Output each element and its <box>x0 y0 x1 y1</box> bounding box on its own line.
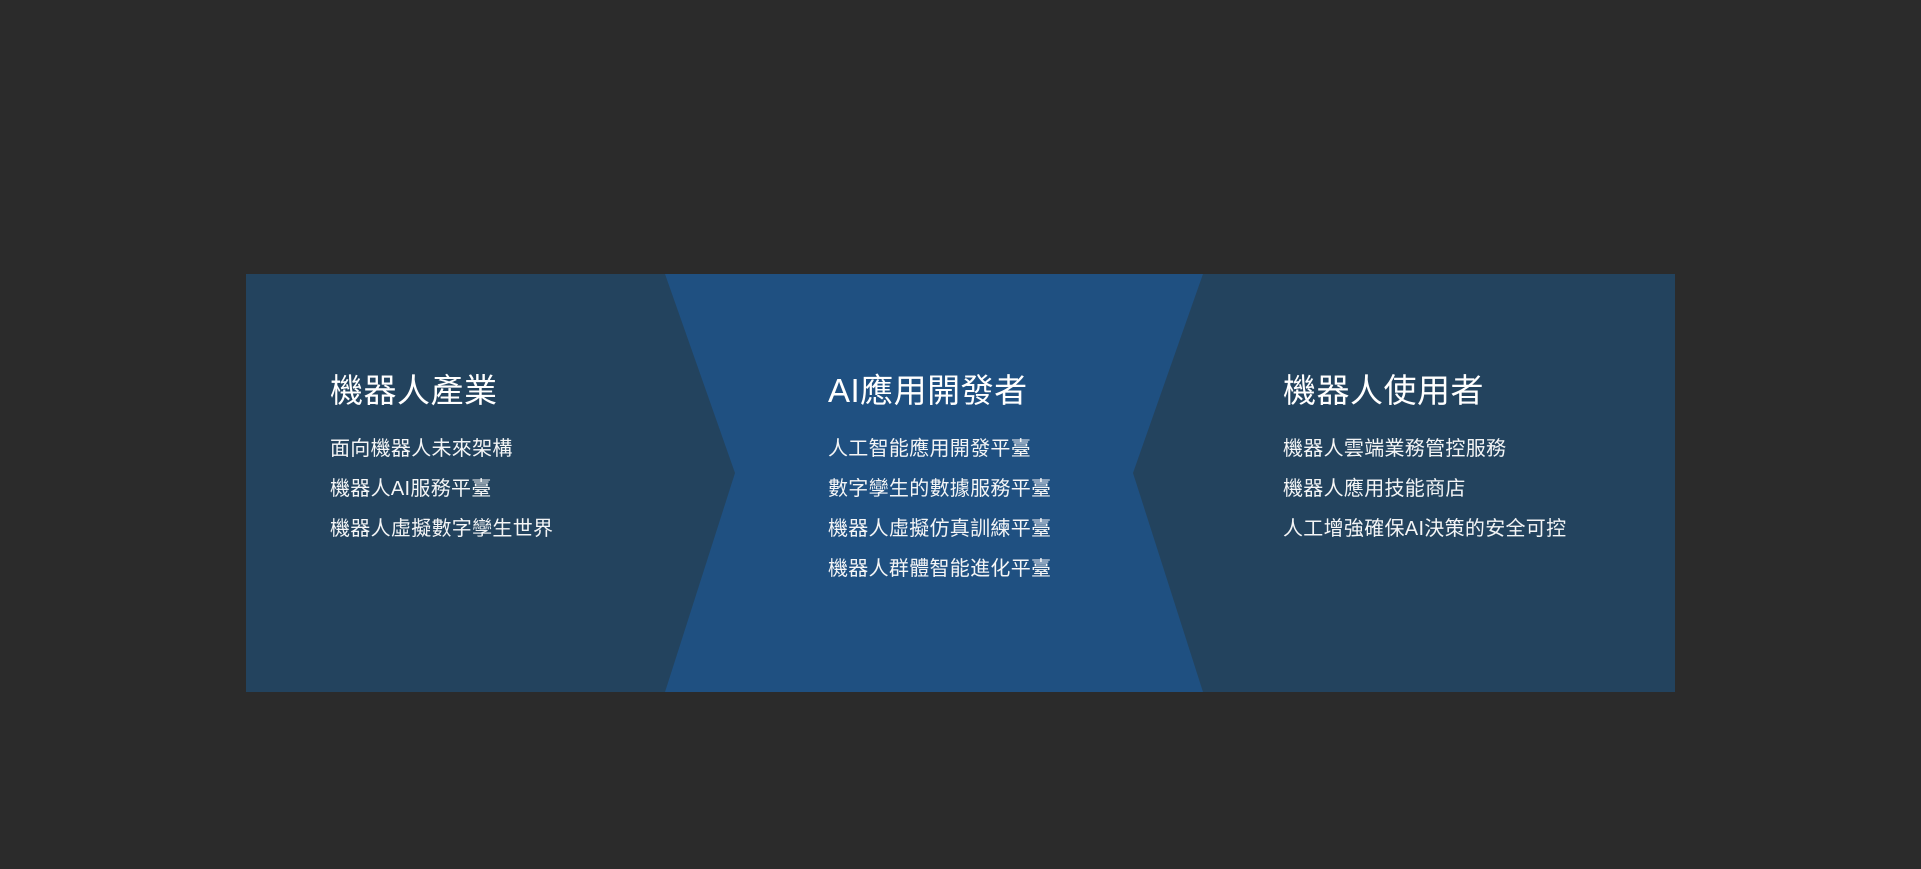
column-3-list: 機器人雲端業務管控服務 機器人應用技能商店 人工增強確保AI決策的安全可控 <box>1283 439 1566 559</box>
list-item: 機器人虛擬數字孿生世界 <box>330 519 553 539</box>
column-1-list: 面向機器人未來架構 機器人AI服務平臺 機器人虛擬數字孿生世界 <box>330 439 553 559</box>
column-2-list: 人工智能應用開發平臺 數字孿生的數據服務平臺 機器人虛擬仿真訓練平臺 機器人群體… <box>828 439 1051 599</box>
column-robot-industry: 機器人產業 面向機器人未來架構 機器人AI服務平臺 機器人虛擬數字孿生世界 <box>330 274 660 692</box>
list-item: 機器人應用技能商店 <box>1283 479 1566 499</box>
list-item: 人工智能應用開發平臺 <box>828 439 1051 459</box>
column-ai-app-developer: AI應用開發者 人工智能應用開發平臺 數字孿生的數據服務平臺 機器人虛擬仿真訓練… <box>828 274 1158 692</box>
list-item: 機器人虛擬仿真訓練平臺 <box>828 519 1051 539</box>
list-item: 機器人雲端業務管控服務 <box>1283 439 1566 459</box>
chevron-banner-panel: 機器人產業 面向機器人未來架構 機器人AI服務平臺 機器人虛擬數字孿生世界 AI… <box>246 274 1675 692</box>
slide-canvas: 機器人產業 面向機器人未來架構 機器人AI服務平臺 機器人虛擬數字孿生世界 AI… <box>0 0 1921 869</box>
column-2-heading: AI應用開發者 <box>828 372 1028 410</box>
column-3-heading: 機器人使用者 <box>1283 372 1484 410</box>
list-item: 機器人AI服務平臺 <box>330 479 553 499</box>
list-item: 面向機器人未來架構 <box>330 439 553 459</box>
column-1-heading: 機器人產業 <box>330 372 498 410</box>
list-item: 數字孿生的數據服務平臺 <box>828 479 1051 499</box>
column-robot-user: 機器人使用者 機器人雲端業務管控服務 機器人應用技能商店 人工增強確保AI決策的… <box>1283 274 1633 692</box>
list-item: 機器人群體智能進化平臺 <box>828 559 1051 579</box>
list-item: 人工增強確保AI決策的安全可控 <box>1283 519 1566 539</box>
